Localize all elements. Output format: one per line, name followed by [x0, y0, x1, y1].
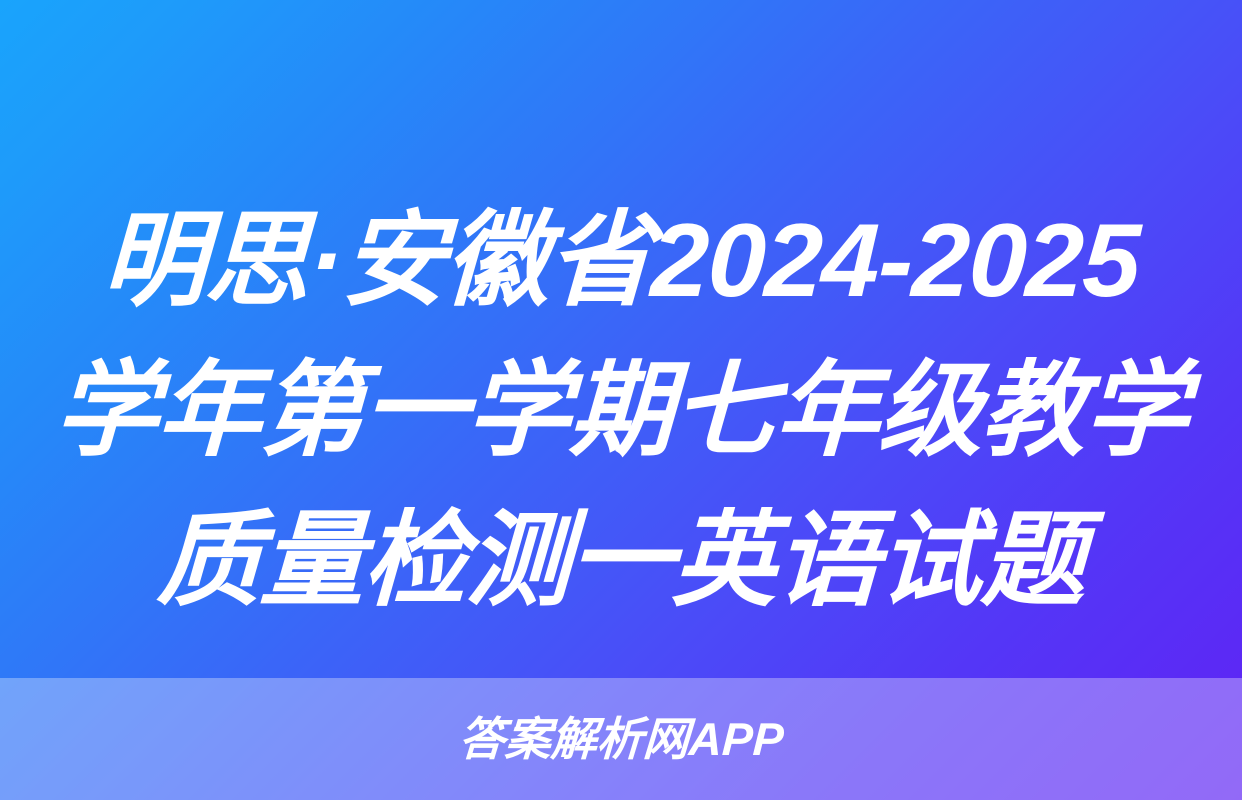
page-title: 明思·安徽省2024-2025 学年第一学期七年级教学 质量检测一英语试题	[0, 186, 1242, 636]
poster-canvas: 明思·安徽省2024-2025 学年第一学期七年级教学 质量检测一英语试题 答案…	[0, 0, 1242, 800]
watermark-label: 答案解析网APP	[457, 716, 784, 762]
watermark-band: 答案解析网APP	[0, 678, 1242, 800]
title-line-3: 质量检测一英语试题	[27, 486, 1214, 636]
title-line-1: 明思·安徽省2024-2025	[27, 186, 1214, 336]
title-line-2: 学年第一学期七年级教学	[27, 336, 1214, 486]
